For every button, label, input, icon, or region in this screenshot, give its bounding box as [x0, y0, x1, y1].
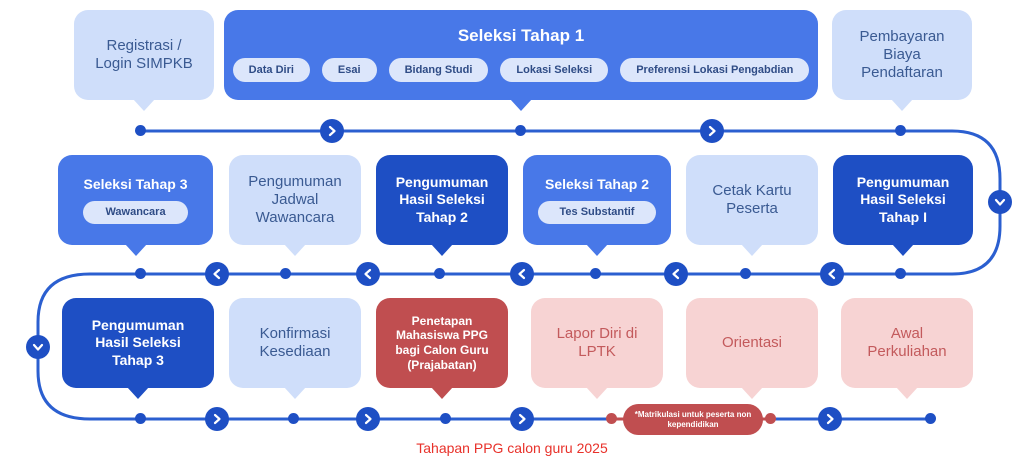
node-label: Cetak Kartu Peserta: [694, 182, 810, 219]
bubble-tail: [284, 387, 306, 399]
chevron-down-icon[interactable]: [26, 335, 50, 359]
node-label: Lapor Diri di LPTK: [539, 325, 655, 362]
wire-dot: [740, 268, 751, 279]
node-registrasi-login-simpkb[interactable]: Registrasi / Login SIMPKB: [74, 10, 214, 100]
banner-title: Seleksi Tahap 1: [458, 26, 584, 46]
wire-dot: [590, 268, 601, 279]
node-label: Pengumuman Hasil Seleksi Tahap 3: [70, 317, 206, 368]
node-awal-perkuliahan[interactable]: Awal Perkuliahan: [841, 298, 973, 388]
chip-esai[interactable]: Esai: [322, 58, 377, 82]
node-pengumuman-hasil-seleksi-tahap-2[interactable]: Pengumuman Hasil Seleksi Tahap 2: [376, 155, 508, 245]
chevron-right-icon[interactable]: [320, 119, 344, 143]
node-label: Pengumuman Jadwal Wawancara: [237, 173, 353, 228]
wire-dot: [135, 413, 146, 424]
chevron-left-icon[interactable]: [205, 262, 229, 286]
node-pembayaran-biaya-pendaftaran[interactable]: Pembayaran Biaya Pendaftaran: [832, 10, 972, 100]
node-orientasi[interactable]: Orientasi: [686, 298, 818, 388]
chip-lokasi-seleksi[interactable]: Lokasi Seleksi: [500, 58, 608, 82]
wire-dot: [925, 413, 936, 424]
wire-dot-red: [765, 413, 776, 424]
chip-preferensi-lokasi-pengabdian[interactable]: Preferensi Lokasi Pengabdian: [620, 58, 809, 82]
wire-dot: [280, 268, 291, 279]
footnote-text: *Matrikulasi untuk peserta non kependidi…: [633, 410, 753, 430]
node-pengumuman-hasil-seleksi-tahap-3[interactable]: Pengumuman Hasil Seleksi Tahap 3: [62, 298, 214, 388]
bubble-tail: [741, 244, 763, 256]
bubble-tail: [431, 387, 453, 399]
chevron-left-icon[interactable]: [356, 262, 380, 286]
wire-dot: [895, 268, 906, 279]
wire-dot: [515, 125, 526, 136]
chevron-right-icon[interactable]: [510, 407, 534, 431]
node-pill-wawancara[interactable]: Wawancara: [83, 201, 187, 224]
diagram-caption: Tahapan PPG calon guru 2025: [0, 440, 1024, 456]
node-label: Pengumuman Hasil Seleksi Tahap I: [841, 174, 965, 225]
node-pengumuman-hasil-seleksi-tahap-1[interactable]: Pengumuman Hasil Seleksi Tahap I: [833, 155, 973, 245]
wire-dot: [434, 268, 445, 279]
bubble-tail: [284, 244, 306, 256]
node-label: Awal Perkuliahan: [849, 325, 965, 362]
wire-dot-red: [606, 413, 617, 424]
node-label: Orientasi: [694, 334, 810, 352]
chevron-left-icon[interactable]: [820, 262, 844, 286]
node-cetak-kartu-peserta[interactable]: Cetak Kartu Peserta: [686, 155, 818, 245]
wire-dot: [895, 125, 906, 136]
chevron-right-icon[interactable]: [700, 119, 724, 143]
chevron-down-icon[interactable]: [988, 190, 1012, 214]
wire-dot: [288, 413, 299, 424]
chip-data-diri[interactable]: Data Diri: [233, 58, 310, 82]
chevron-right-icon[interactable]: [205, 407, 229, 431]
wire-dot: [135, 125, 146, 136]
caption-text: Tahapan PPG calon guru 2025: [416, 440, 607, 456]
node-label: Registrasi / Login SIMPKB: [82, 37, 206, 74]
bubble-tail: [510, 99, 532, 111]
node-label: Konfirmasi Kesediaan: [237, 325, 353, 362]
node-konfirmasi-kesediaan[interactable]: Konfirmasi Kesediaan: [229, 298, 361, 388]
flowchart-diagram: Registrasi / Login SIMPKB Seleksi Tahap …: [0, 0, 1024, 459]
node-label: Seleksi Tahap 2: [531, 176, 663, 193]
bubble-tail: [741, 387, 763, 399]
chevron-left-icon[interactable]: [664, 262, 688, 286]
bubble-tail: [127, 387, 149, 399]
node-lapor-diri-di-lptk[interactable]: Lapor Diri di LPTK: [531, 298, 663, 388]
bubble-tail: [586, 387, 608, 399]
node-seleksi-tahap-2[interactable]: Seleksi Tahap 2 Tes Substantif: [523, 155, 671, 245]
node-pengumuman-jadwal-wawancara[interactable]: Pengumuman Jadwal Wawancara: [229, 155, 361, 245]
bubble-tail: [896, 387, 918, 399]
bubble-tail: [133, 99, 155, 111]
wire-dot: [135, 268, 146, 279]
chevron-left-icon[interactable]: [510, 262, 534, 286]
node-pill-tes-substantif[interactable]: Tes Substantif: [538, 201, 657, 224]
node-label: Penetapan Mahasiswa PPG bagi Calon Guru …: [384, 314, 500, 373]
node-penetapan-mahasiswa-ppg[interactable]: Penetapan Mahasiswa PPG bagi Calon Guru …: [376, 298, 508, 388]
banner-seleksi-tahap-1[interactable]: Seleksi Tahap 1 Data Diri Esai Bidang St…: [224, 10, 818, 100]
node-label: Seleksi Tahap 3: [66, 176, 205, 193]
bubble-tail: [586, 244, 608, 256]
footnote-pill-matrikulasi: *Matrikulasi untuk peserta non kependidi…: [623, 404, 763, 435]
bubble-tail: [892, 244, 914, 256]
node-label: Pengumuman Hasil Seleksi Tahap 2: [384, 174, 500, 225]
wire-dot: [440, 413, 451, 424]
bubble-tail: [125, 244, 147, 256]
banner-chip-list: Data Diri Esai Bidang Studi Lokasi Selek…: [236, 58, 806, 82]
node-seleksi-tahap-3[interactable]: Seleksi Tahap 3 Wawancara: [58, 155, 213, 245]
chevron-right-icon[interactable]: [356, 407, 380, 431]
chip-bidang-studi[interactable]: Bidang Studi: [389, 58, 489, 82]
bubble-tail: [891, 99, 913, 111]
bubble-tail: [431, 244, 453, 256]
chevron-right-icon[interactable]: [818, 407, 842, 431]
node-label: Pembayaran Biaya Pendaftaran: [840, 28, 964, 83]
